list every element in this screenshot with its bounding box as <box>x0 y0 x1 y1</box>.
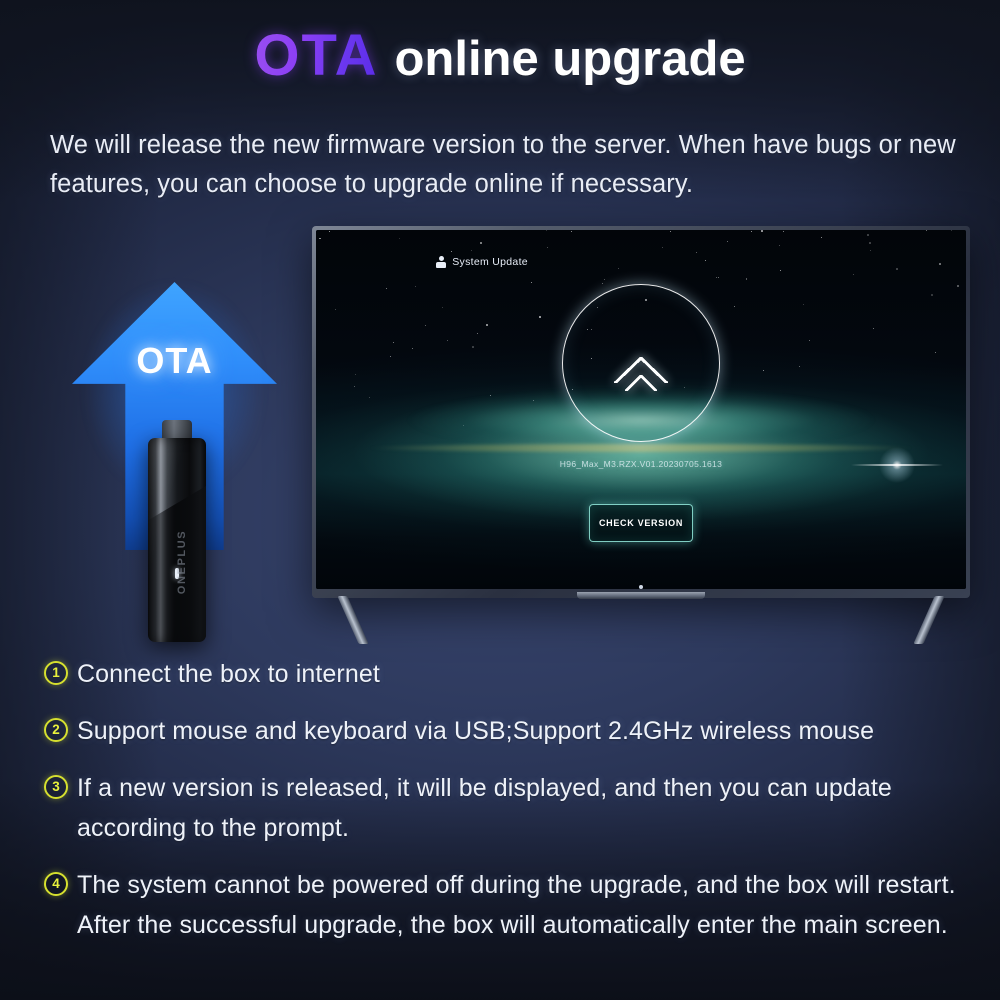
star <box>539 316 541 318</box>
star <box>939 263 941 265</box>
tv-bezel: System Update H96_Max_M3.RZX.V01.2023070… <box>312 226 970 598</box>
star <box>957 285 959 287</box>
star <box>779 245 780 246</box>
star <box>451 251 452 252</box>
page-subtitle: We will release the new firmware version… <box>50 126 990 204</box>
star <box>412 348 413 349</box>
star <box>705 260 706 261</box>
list-item-text: If a new version is released, it will be… <box>77 768 974 848</box>
star <box>477 333 478 334</box>
star <box>746 278 748 280</box>
star <box>415 286 416 287</box>
star <box>670 231 671 232</box>
star <box>369 397 370 398</box>
update-circle-ring <box>562 284 720 442</box>
list-item: 2 Support mouse and keyboard via USB;Sup… <box>44 711 974 751</box>
star <box>390 356 391 357</box>
star <box>763 370 764 371</box>
chevron-up-icon-small <box>625 375 657 391</box>
star <box>935 352 936 353</box>
star <box>471 250 472 251</box>
star <box>867 234 869 236</box>
page-header: OTAonline upgrade <box>0 22 1000 89</box>
system-update-header: System Update <box>436 256 528 268</box>
star <box>869 242 871 244</box>
television: System Update H96_Max_M3.RZX.V01.2023070… <box>312 226 970 598</box>
star <box>853 274 854 275</box>
star <box>604 279 605 280</box>
star <box>472 346 474 348</box>
list-item-badge: 3 <box>44 775 68 799</box>
page-title-accent: OTA <box>254 22 378 89</box>
check-version-label: CHECK VERSION <box>599 518 683 528</box>
star <box>751 231 752 232</box>
list-item: 1 Connect the box to internet <box>44 654 974 694</box>
star <box>873 328 874 329</box>
star <box>355 374 356 375</box>
star <box>727 241 728 242</box>
star <box>399 238 400 239</box>
list-item-badge: 1 <box>44 661 68 685</box>
check-version-button[interactable]: CHECK VERSION <box>589 504 693 542</box>
device-brand-label: ONEPLUS <box>176 520 188 604</box>
feature-list: 1 Connect the box to internet 2 Support … <box>44 654 974 962</box>
list-item-badge: 4 <box>44 872 68 896</box>
page-title-rest: online upgrade <box>394 31 745 87</box>
star <box>602 283 603 284</box>
star <box>531 282 532 283</box>
star <box>718 277 719 278</box>
star <box>761 230 763 232</box>
star <box>662 247 663 248</box>
star <box>780 270 781 271</box>
star <box>803 304 804 305</box>
star <box>896 268 898 270</box>
star <box>951 230 952 231</box>
star <box>447 340 448 341</box>
tv-screen: System Update H96_Max_M3.RZX.V01.2023070… <box>316 230 966 589</box>
tv-chin-bar <box>577 592 705 599</box>
star <box>926 230 927 231</box>
star <box>931 294 933 296</box>
firmware-version-text: H96_Max_M3.RZX.V01.20230705.1613 <box>316 459 966 469</box>
star <box>696 252 697 253</box>
star <box>821 237 822 238</box>
star <box>393 342 394 343</box>
horizon-landmass <box>368 444 914 452</box>
star <box>442 307 443 308</box>
list-item-badge: 2 <box>44 718 68 742</box>
list-item-text: Support mouse and keyboard via USB;Suppo… <box>77 711 874 751</box>
star <box>571 231 572 232</box>
ota-arrow-label: OTA <box>72 340 277 382</box>
tv-stick-device: ONEPLUS <box>140 420 214 642</box>
star <box>809 340 810 341</box>
star <box>870 250 871 251</box>
star <box>547 247 548 248</box>
star <box>716 277 717 278</box>
person-icon <box>436 256 446 268</box>
tv-power-led <box>639 585 643 589</box>
star <box>354 386 355 387</box>
list-item-text: The system cannot be powered off during … <box>77 865 974 945</box>
star <box>425 325 426 326</box>
star <box>486 324 488 326</box>
star <box>734 306 735 307</box>
star <box>329 231 330 232</box>
list-item-text: Connect the box to internet <box>77 654 380 694</box>
star <box>799 366 800 367</box>
star <box>546 230 547 231</box>
star <box>618 268 619 269</box>
list-item: 3 If a new version is released, it will … <box>44 768 974 848</box>
star <box>319 238 321 240</box>
star <box>335 309 336 310</box>
system-update-label: System Update <box>452 256 528 268</box>
list-item: 4 The system cannot be powered off durin… <box>44 865 974 945</box>
device-body: ONEPLUS <box>148 438 206 642</box>
star <box>783 231 784 232</box>
star <box>480 242 482 244</box>
star <box>386 288 387 289</box>
